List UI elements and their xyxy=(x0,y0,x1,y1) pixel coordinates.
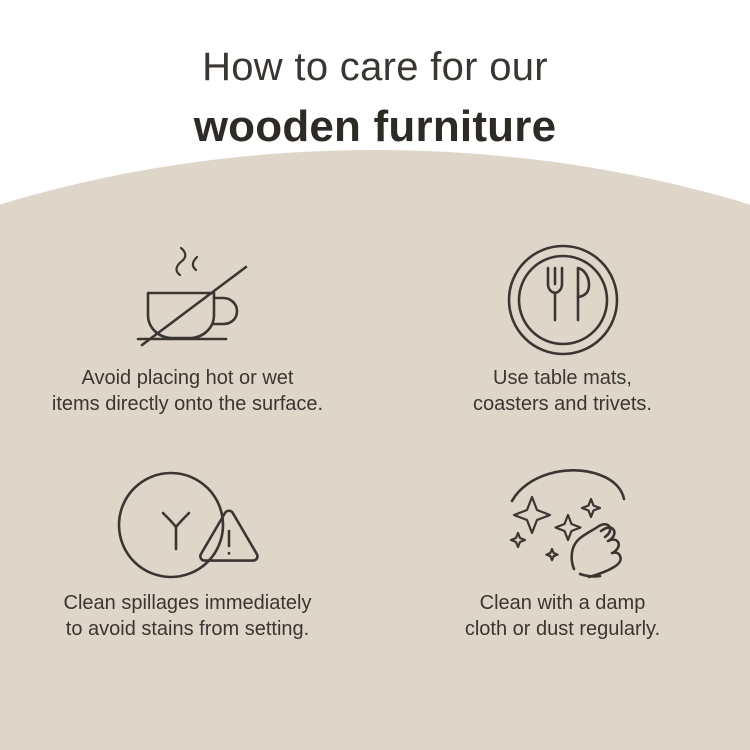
tip-caption-4-line2: cloth or dust regularly. xyxy=(465,616,660,642)
tip-card-2: Use table mats, coasters and trivets. xyxy=(375,235,750,460)
no-hot-drink-icon xyxy=(118,235,258,365)
tip-caption-2: Use table mats, coasters and trivets. xyxy=(473,365,652,418)
tip-caption-1-line2: items directly onto the surface. xyxy=(52,391,323,417)
tip-caption-2-line2: coasters and trivets. xyxy=(473,391,652,417)
tip-caption-1-line1: Avoid placing hot or wet xyxy=(82,367,294,389)
tip-caption-3-line2: to avoid stains from setting. xyxy=(64,616,312,642)
tip-caption-4: Clean with a damp cloth or dust regularl… xyxy=(465,590,660,643)
tip-card-3: Clean spillages immediately to avoid sta… xyxy=(0,460,375,685)
spill-warning-icon xyxy=(113,460,263,590)
header: How to care for our wooden furniture xyxy=(0,0,750,150)
tip-caption-2-line1: Use table mats, xyxy=(493,367,632,389)
plate-cutlery-icon xyxy=(498,235,628,365)
tip-card-1: Avoid placing hot or wet items directly … xyxy=(0,235,375,460)
tips-grid: Avoid placing hot or wet items directly … xyxy=(0,235,750,685)
hand-wipe-sparkle-icon xyxy=(488,460,638,590)
tip-caption-3-line1: Clean spillages immediately xyxy=(64,592,312,614)
tip-caption-3: Clean spillages immediately to avoid sta… xyxy=(64,590,312,643)
infographic-page: How to care for our wooden furniture xyxy=(0,0,750,750)
tip-caption-4-line1: Clean with a damp xyxy=(480,592,646,614)
page-title-line2: wooden furniture xyxy=(0,105,750,149)
page-title-line1: How to care for our xyxy=(0,47,750,87)
tip-card-4: Clean with a damp cloth or dust regularl… xyxy=(375,460,750,685)
tip-caption-1: Avoid placing hot or wet items directly … xyxy=(52,365,323,418)
